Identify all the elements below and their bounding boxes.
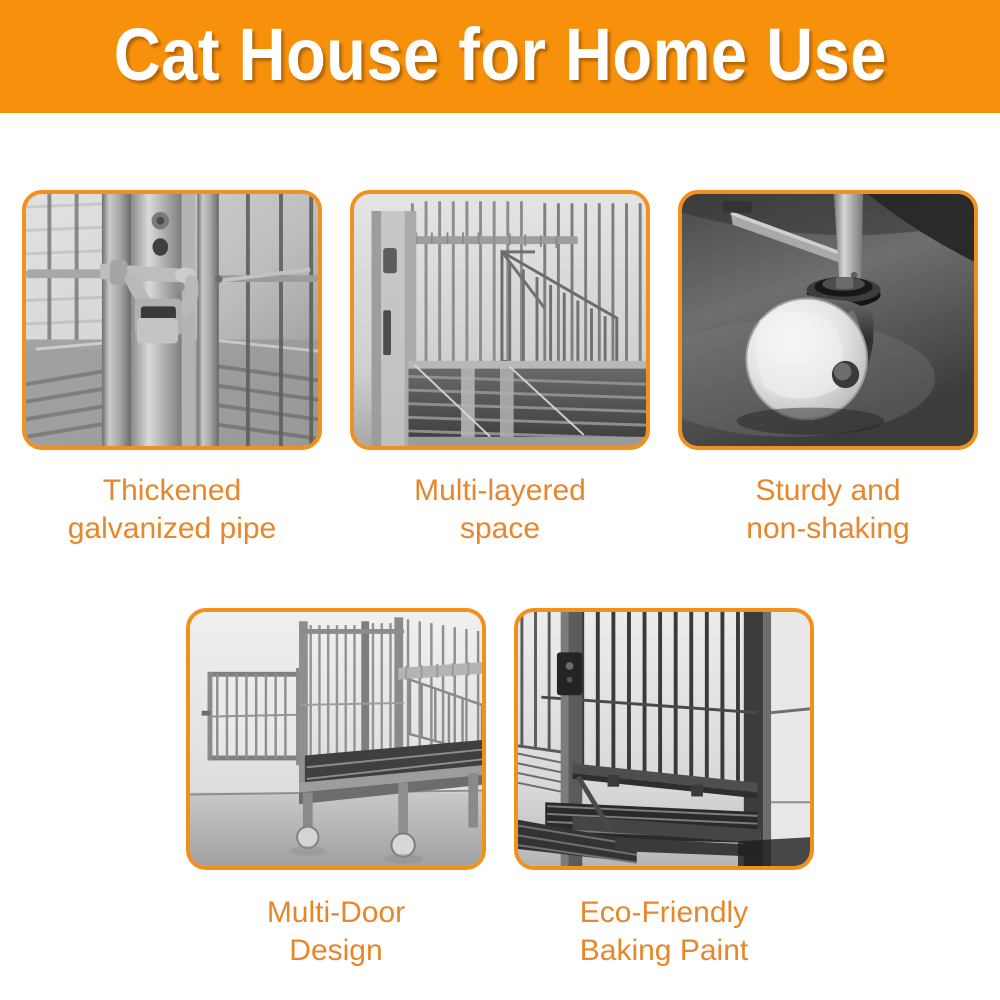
feature-caption: Multi-Door Design: [186, 894, 486, 970]
feature-caption: Sturdy and non-shaking: [678, 472, 978, 548]
feature-grid: Thickened galvanized pipe: [0, 113, 1000, 1000]
photo-frame: [514, 608, 814, 870]
feature-caption: Thickened galvanized pipe: [22, 472, 322, 548]
thickened-galvanized-pipe-photo: [26, 194, 318, 446]
sturdy-non-shaking-photo: [682, 194, 974, 446]
feature-card-eco-friendly-baking-paint: Eco-Friendly Baking Paint: [514, 608, 814, 970]
feature-caption: Multi-layered space: [350, 472, 650, 548]
feature-card-multi-layered-space: Multi-layered space: [350, 190, 650, 548]
feature-caption: Eco-Friendly Baking Paint: [514, 894, 814, 970]
feature-row-bottom: Multi-Door Design: [0, 608, 1000, 970]
feature-card-sturdy-non-shaking: Sturdy and non-shaking: [678, 190, 978, 548]
photo-frame: [350, 190, 650, 450]
page-title: Cat House for Home Use: [113, 18, 886, 96]
photo-frame: [186, 608, 486, 870]
photo-frame: [22, 190, 322, 450]
feature-row-top: Thickened galvanized pipe: [0, 190, 1000, 548]
eco-friendly-baking-paint-photo: [518, 612, 810, 866]
multi-door-design-photo: [190, 612, 482, 866]
feature-card-thickened-galvanized-pipe: Thickened galvanized pipe: [22, 190, 322, 548]
photo-frame: [678, 190, 978, 450]
header-banner: Cat House for Home Use: [0, 0, 1000, 113]
feature-card-multi-door-design: Multi-Door Design: [186, 608, 486, 970]
multi-layered-space-photo: [354, 194, 646, 446]
